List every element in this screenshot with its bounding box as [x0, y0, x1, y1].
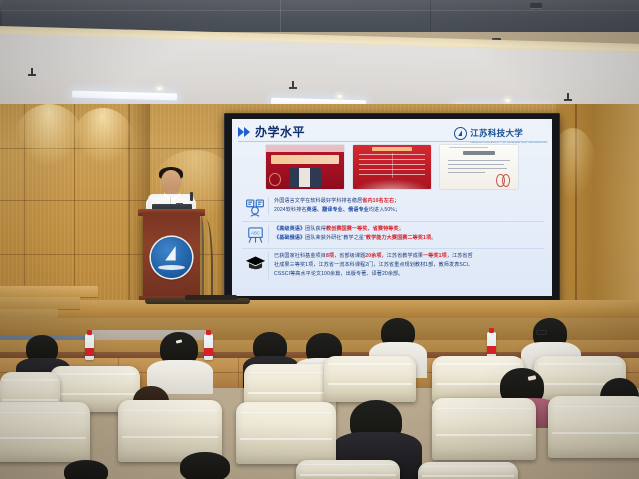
double-chevron-icon	[238, 127, 251, 138]
audience-chair	[432, 398, 536, 460]
photo-top-band	[266, 145, 344, 152]
university-name: 江苏科技大学	[470, 128, 523, 138]
ceiling-seam-vertical-1	[280, 0, 281, 32]
certificate-title	[463, 151, 494, 155]
audience-chair	[0, 402, 90, 462]
lecture-hall-photo: 办学水平 江苏科技大学 JIANGSU UNIVERSITY OF SCIENC…	[0, 0, 639, 479]
award-ceremony-photo	[266, 145, 344, 189]
certificate-line	[448, 172, 485, 174]
slide-title: 办学水平	[255, 126, 305, 138]
slide-bullet-2: ABC 《高级英语》团队获得教创赛国赛一等奖、省赛特等奖； 《基础俄语》团队荣获…	[242, 221, 544, 248]
audience-chair	[236, 402, 336, 464]
slide-bullet-1-text: 外国语言文学在软科最好学科排名稳居省内10名左右； 2024软科排名英语、翻译专…	[268, 197, 544, 215]
bullet-line: 《高级英语》团队获得教创赛国赛一等奖、省赛特等奖；	[274, 225, 544, 234]
water-bottle[interactable]	[487, 332, 496, 358]
ceiling-speaker-icon	[530, 3, 542, 8]
bullet-line: CSSCI等高水平论文100余篇，出版专著、译著20余部。	[274, 270, 544, 279]
presentation-screen-icon	[242, 197, 268, 218]
certificate-line	[448, 168, 507, 170]
photo-banner-text	[271, 155, 338, 165]
certificate-line	[448, 164, 504, 166]
eyeglasses-icon	[536, 330, 547, 335]
abc-easel-icon: ABC	[242, 225, 268, 245]
slide-bullet-3-text: 已获国家社科基金项目8项，省部级课题20余项，江苏省教学成果一等奖1项，江苏省哲…	[268, 252, 544, 279]
slide-bullet-1: 外国语言文学在软科最好学科排名稳居省内10名左右； 2024软科排名英语、翻译专…	[242, 194, 544, 221]
certificate-image	[440, 145, 518, 189]
water-bottle[interactable]	[85, 334, 94, 360]
microphone-icon	[190, 192, 193, 201]
certificate-line	[448, 160, 510, 162]
stage-step	[0, 286, 98, 297]
slide-bullet-2-text: 《高级英语》团队获得教创赛国赛一等奖、省赛特等奖； 《基础俄语》团队荣获外研社“…	[268, 225, 544, 243]
certificate-seal-icon	[496, 174, 510, 185]
bullet-line: 已获国家社科基金项目8项，省部级课题20余项，江苏省教学成果一等奖1项，江苏省哲	[274, 252, 544, 261]
sailboat-seal-icon	[151, 237, 192, 278]
ranking-column-divider	[392, 153, 393, 178]
presentation-screen[interactable]: 办学水平 江苏科技大学 JIANGSU UNIVERSITY OF SCIENC…	[232, 119, 552, 296]
certificate-topline	[449, 147, 488, 148]
bullet-line: 2024软科排名英语、翻译专业、俄语专业均进入50%；	[274, 206, 544, 215]
mic-stand-base	[185, 295, 237, 300]
audience-chair	[548, 396, 639, 458]
ceiling-downlight-icon	[157, 87, 162, 90]
ranking-table-image	[353, 145, 431, 189]
audience-chair	[324, 356, 416, 402]
water-bottle[interactable]	[204, 334, 213, 360]
ceiling-hanger-icon	[567, 93, 569, 100]
slide-title-divider	[238, 141, 546, 142]
audience-head	[64, 460, 108, 479]
ceiling-hanger-icon	[292, 81, 294, 88]
bullet-line: 社成果三等奖1项，江苏省一流本科课程2门，江苏省重点规划教材1部，教师发表SCI…	[274, 261, 544, 270]
slide-thumbnail-row	[266, 145, 518, 189]
university-seal-icon	[454, 127, 467, 140]
ceiling-hanger-icon	[31, 68, 33, 75]
stage-step	[0, 297, 80, 309]
ceiling-downlight-icon	[337, 95, 342, 98]
audience-head	[180, 452, 230, 479]
desk-divider	[238, 358, 239, 388]
ceiling-seam	[0, 10, 639, 11]
audience-chair	[418, 462, 518, 479]
photo-decor-ring	[269, 173, 281, 186]
ceiling-upper-dark	[0, 0, 639, 32]
ceiling-seam-vertical-2	[430, 0, 431, 32]
bullet-line: 外国语言文学在软科最好学科排名稳居省内10名左右；	[274, 197, 544, 206]
audience-chair	[296, 460, 400, 479]
svg-text:ABC: ABC	[251, 230, 260, 235]
bullet-line: 《基础俄语》团队荣获外研社“教学之星”教学能力大赛国赛二等奖1项。	[274, 234, 544, 243]
graduation-cap-icon	[242, 252, 268, 274]
ceiling-downlight-icon	[505, 99, 510, 102]
ranking-header	[372, 147, 413, 151]
ranking-bottom-glow	[353, 179, 431, 189]
slide-bullet-list: 外国语言文学在软科最好学科排名稳居省内10名左右； 2024软科排名英语、翻译专…	[242, 194, 544, 282]
photo-people	[289, 168, 320, 187]
slide-bullet-3: 已获国家社科基金项目8项，省部级课题20余项，江苏省教学成果一等奖1项，江苏省哲…	[242, 248, 544, 282]
